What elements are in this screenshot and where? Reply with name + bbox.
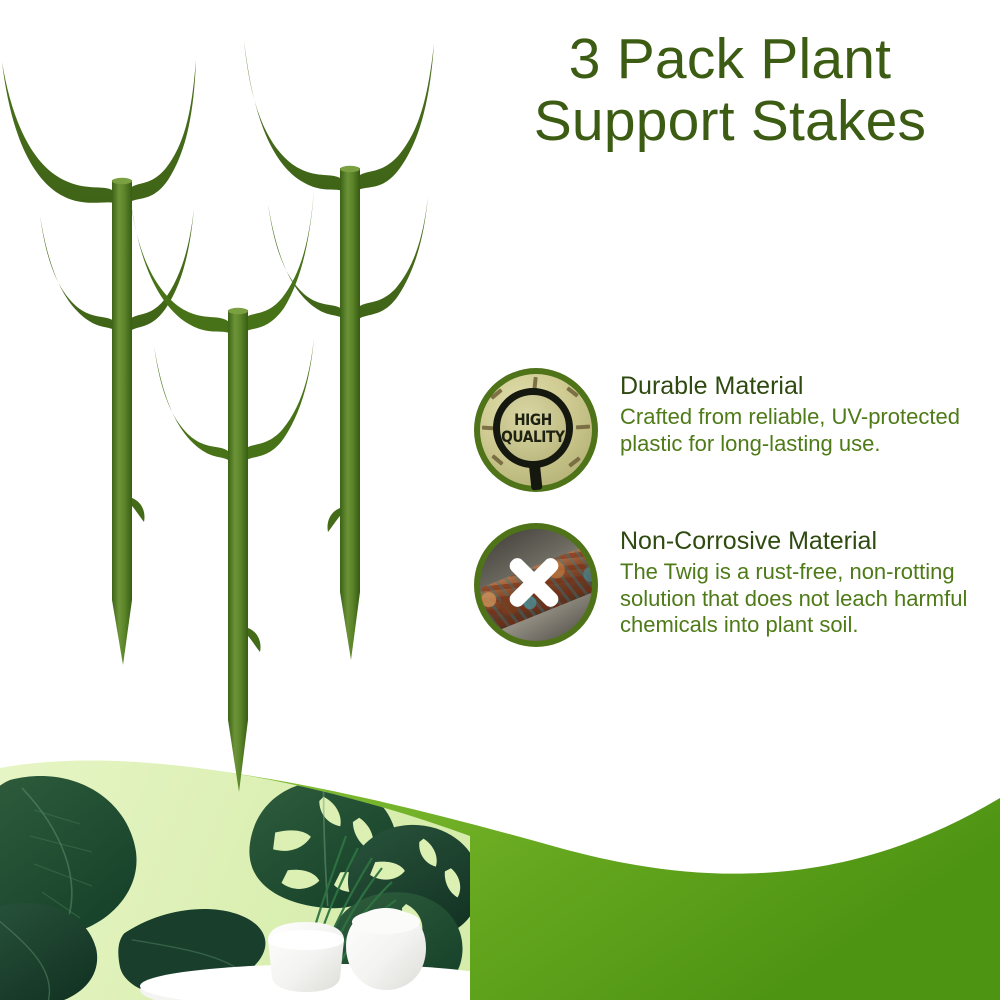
page-title: 3 Pack Plant Support Stakes [470, 28, 990, 152]
feature-text-block: Non-Corrosive Material The Twig is a rus… [620, 523, 980, 639]
badge-line-2: QUALITY [501, 428, 564, 445]
feature-description: The Twig is a rust-free, non-rotting sol… [620, 559, 980, 639]
feature-title: Durable Material [620, 372, 980, 401]
feature-non-corrosive-material: Non-Corrosive Material The Twig is a rus… [474, 523, 980, 647]
feature-durable-material: HIGH QUALITY Durable Material Crafted fr… [474, 368, 980, 492]
infographic-canvas: 3 Pack Plant Support Stakes HIGH QUALITY… [0, 0, 1000, 1000]
stake-right [244, 40, 434, 660]
feature-description: Crafted from reliable, UV-protected plas… [620, 404, 980, 457]
feature-title: Non-Corrosive Material [620, 527, 980, 556]
high-quality-magnifier-icon: HIGH QUALITY [474, 368, 598, 492]
title-line-2: Support Stakes [470, 90, 990, 152]
feature-text-block: Durable Material Crafted from reliable, … [620, 368, 980, 457]
stake-left [2, 60, 196, 665]
badge-line-1: HIGH [514, 411, 552, 428]
stake-middle [130, 190, 314, 792]
title-line-1: 3 Pack Plant [470, 28, 990, 90]
no-rust-pipe-icon [474, 523, 598, 647]
magnifier-lens: HIGH QUALITY [493, 388, 573, 468]
